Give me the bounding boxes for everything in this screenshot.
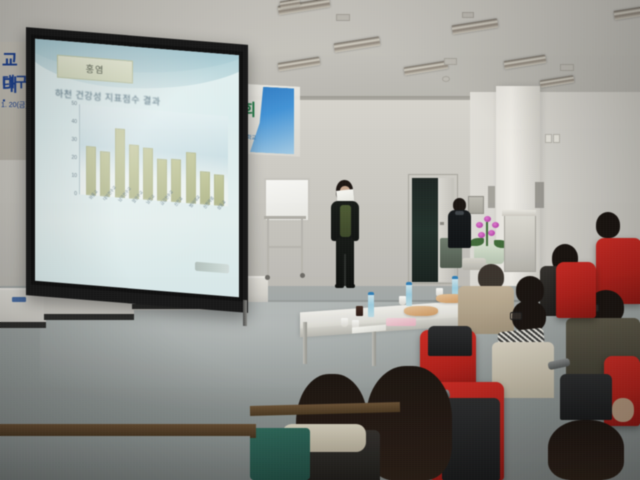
orchid-bloom <box>492 222 499 228</box>
podium[interactable] <box>504 214 536 272</box>
open-doorway[interactable] <box>412 178 438 282</box>
presentation-slide: 홍염 하천 건강성 지표점수 결과 50403020100 와룡교대부천수교남역… <box>35 39 239 297</box>
bar-chart: 50403020100 와룡교대부천수교남역천수교팔현수교남천교금강천수교신천교… <box>53 102 229 226</box>
seated-man-by-door <box>446 198 472 260</box>
napkins <box>386 318 416 326</box>
wall-outlet[interactable] <box>545 134 552 143</box>
slide-logo <box>195 262 229 274</box>
ceiling-vent <box>336 14 350 21</box>
cabinet-logo <box>12 297 26 302</box>
ceiling-vent <box>560 64 574 71</box>
podium-top <box>502 210 536 216</box>
chart-y-tick: 20 <box>59 154 77 161</box>
presenter-shoe <box>346 284 355 288</box>
audience-face <box>612 398 634 422</box>
water-bottle <box>406 282 412 306</box>
seat[interactable] <box>556 262 596 318</box>
paper-cup <box>341 318 348 327</box>
chart-y-tick: 50 <box>59 100 77 107</box>
slide-section-tab-label: 홍염 <box>86 62 105 76</box>
ceiling-vent <box>444 58 457 65</box>
coffee-container <box>356 306 363 316</box>
collar <box>455 211 464 215</box>
projection-screen: 홍염 하천 건강성 지표점수 결과 50403020100 와룡교대부천수교남역… <box>26 27 248 313</box>
food-platter <box>404 306 438 316</box>
seat-back <box>560 374 612 420</box>
screen-support-pole <box>243 300 247 326</box>
wall-panel <box>535 182 544 208</box>
orchid-bloom <box>476 222 483 228</box>
chart-bars <box>83 105 225 206</box>
whiteboard-wheel <box>265 275 270 280</box>
conference-hall-photo: 교 대 대구 · 1. 20(금) 1 발표회 표회 대학교 한경대학교 홍염 … <box>0 0 640 480</box>
table-leg <box>372 330 376 366</box>
audience-head <box>596 212 620 238</box>
eyeglasses <box>510 312 522 320</box>
seat-back <box>428 326 472 356</box>
orchid-bloom <box>488 230 495 236</box>
whiteboard-crossbar <box>267 246 303 248</box>
paper-cup <box>399 296 406 305</box>
whiteboard-leg <box>301 216 303 274</box>
door-handle[interactable] <box>440 222 444 225</box>
wall-outlet[interactable] <box>553 134 560 143</box>
whiteboard-tray <box>264 216 306 219</box>
presenter-standing <box>326 180 362 290</box>
chart-y-tick: 10 <box>59 172 77 179</box>
chart-y-tick: 40 <box>59 118 77 125</box>
chart-y-tick: 0 <box>59 190 77 197</box>
bench[interactable] <box>250 428 310 480</box>
orchid-bloom <box>478 232 485 238</box>
table-leg <box>303 322 307 364</box>
orchid-bloom <box>484 216 491 222</box>
presenter-shoe <box>335 284 344 288</box>
ceiling-vent <box>462 12 474 18</box>
wall-panel <box>488 186 495 208</box>
cabinet-base <box>0 322 46 328</box>
cabinet-base <box>44 314 134 320</box>
smoke-detector <box>442 76 450 82</box>
presenter-shirt <box>340 205 351 237</box>
slide-section-tab: 홍염 <box>57 55 133 84</box>
presenter-leg-split <box>344 254 346 286</box>
torso <box>448 210 471 248</box>
whiteboard-wheel <box>300 273 305 278</box>
audience-head <box>548 420 624 480</box>
chart-y-tick: 30 <box>59 136 77 143</box>
step-riser <box>0 436 250 480</box>
water-bottle <box>368 292 374 317</box>
